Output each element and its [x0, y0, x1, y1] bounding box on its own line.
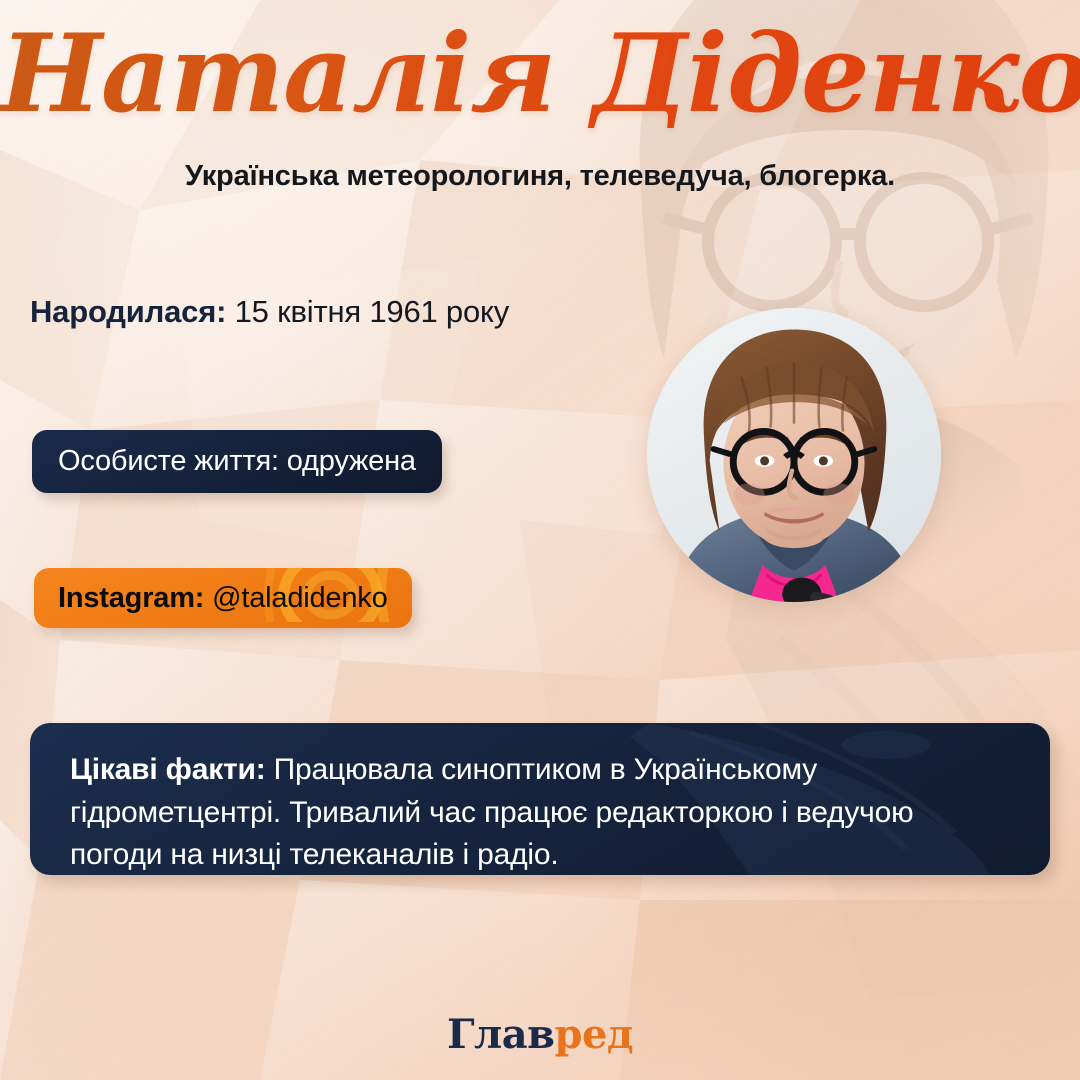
brand-logo[interactable]: Главред — [0, 1011, 1080, 1058]
instagram-handle: @taladidenko — [204, 582, 387, 614]
interesting-facts-label: Цікаві факти: — [70, 753, 266, 786]
instagram-text: Instagram: @taladidenko — [58, 582, 388, 615]
personal-life-badge: Особисте життя: одружена — [32, 430, 442, 493]
brand-logo-part-one: Глав — [447, 1011, 555, 1058]
brand-logo-part-two: ред — [554, 1011, 633, 1058]
infographic-card: Наталія Діденко Українська метеорологиня… — [0, 0, 1080, 1080]
birth-date-line: Народилася: 15 квітня 1961 року — [30, 294, 509, 330]
page-title: Наталія Діденко — [0, 18, 1080, 131]
interesting-facts-box: Цікаві факти: Працювала синоптиком в Укр… — [30, 723, 1050, 875]
portrait-photo — [647, 308, 941, 602]
interesting-facts-text: Цікаві факти: Працювала синоптиком в Укр… — [70, 749, 1010, 875]
personal-life-text: Особисте життя: одружена — [58, 445, 416, 478]
instagram-badge[interactable]: Instagram: @taladidenko — [34, 568, 412, 628]
birth-date-label: Народилася: — [30, 294, 226, 329]
birth-date-value: 15 квітня 1961 року — [226, 294, 509, 329]
page-subtitle: Українська метеорологиня, телеведуча, бл… — [0, 160, 1080, 193]
avatar — [647, 308, 941, 602]
instagram-label: Instagram: — [58, 582, 204, 614]
